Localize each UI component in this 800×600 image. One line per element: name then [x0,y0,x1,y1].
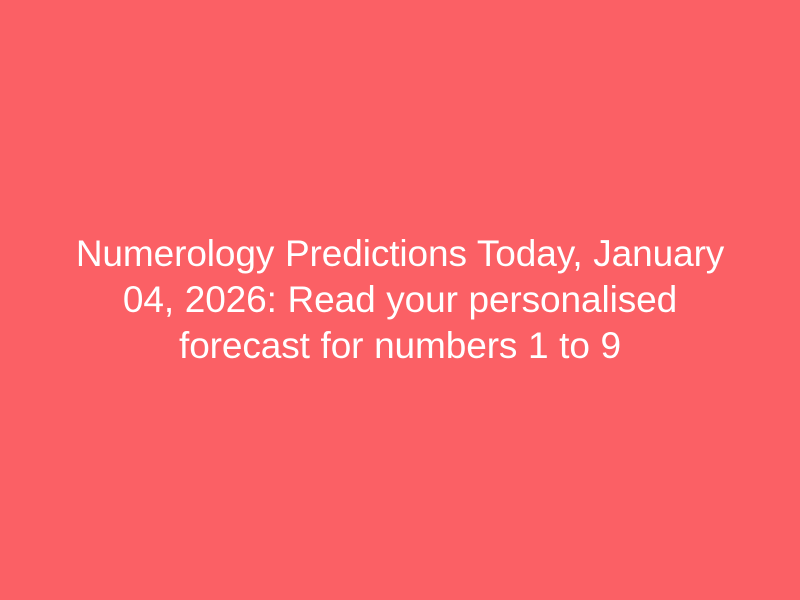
page-title: Numerology Predictions Today, January 04… [70,231,730,369]
headline-block: Numerology Predictions Today, January 04… [70,231,730,369]
hero-card: Numerology Predictions Today, January 04… [0,0,800,600]
